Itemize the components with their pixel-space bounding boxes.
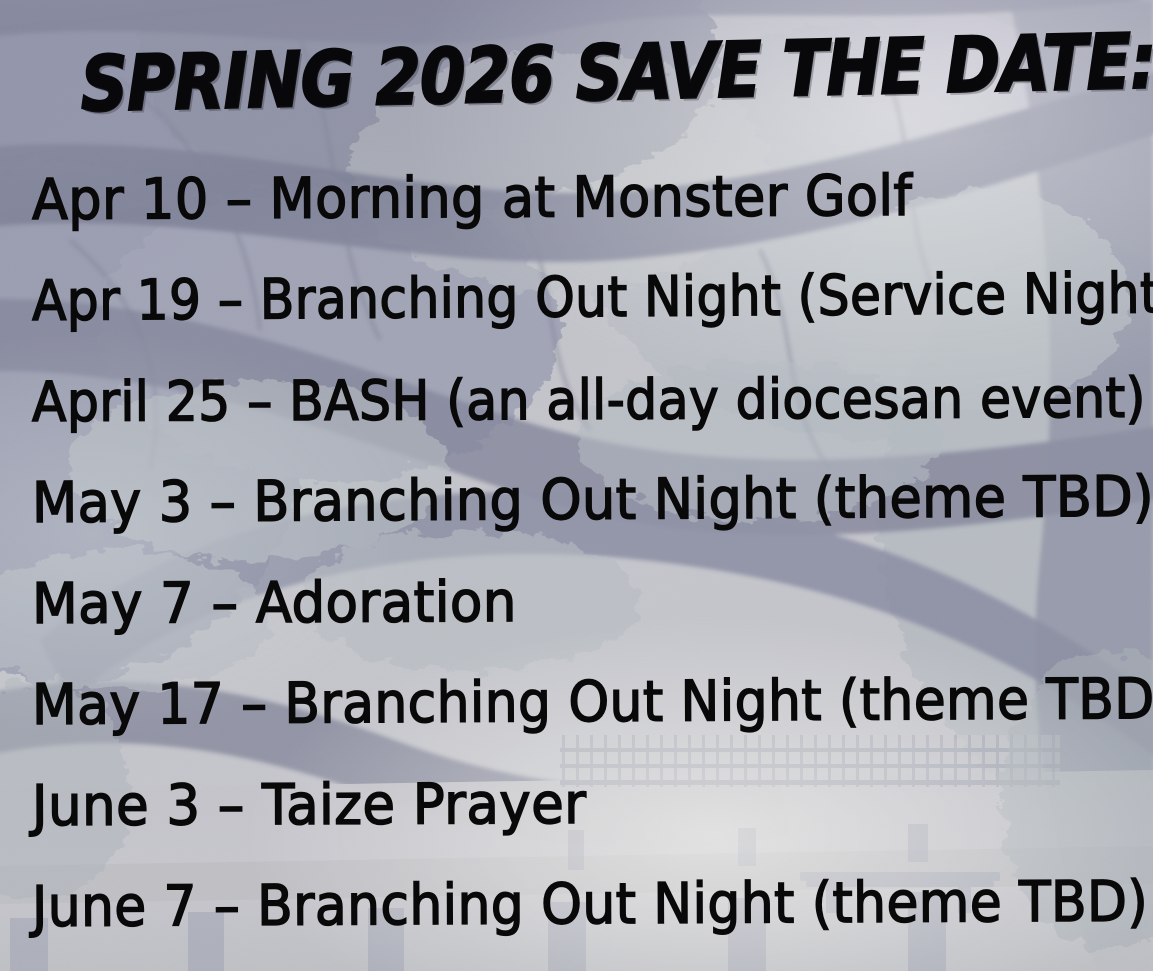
list-item: Apr 19 – Branching Out Night (Service Ni…	[32, 244, 1037, 352]
page-title: SPRING 2026 SAVE THE DATE:	[80, 25, 1073, 123]
poster-content: SPRING 2026 SAVE THE DATE: Apr 10 – Morn…	[0, 0, 1153, 971]
list-item: May 17 – Branching Out Night (theme TBD)	[32, 650, 1059, 756]
list-item: June 3 – Taize Prayer	[32, 752, 1081, 857]
list-item: June 7 – Branching Out Night (theme TBD)	[32, 852, 1059, 958]
list-item: May 7 – Adoration	[32, 550, 1081, 655]
list-item: April 25 – BASH (an all-day diocesan eve…	[32, 348, 1048, 453]
list-item: May 3 – Branching Out Night (theme TBD)	[32, 447, 1070, 554]
save-the-date-poster: SPRING 2026 SAVE THE DATE: Apr 10 – Morn…	[0, 0, 1153, 971]
event-list: Apr 10 – Morning at Monster Golf Apr 19 …	[32, 150, 1142, 958]
list-item: Apr 10 – Morning at Monster Golf	[32, 145, 1070, 251]
